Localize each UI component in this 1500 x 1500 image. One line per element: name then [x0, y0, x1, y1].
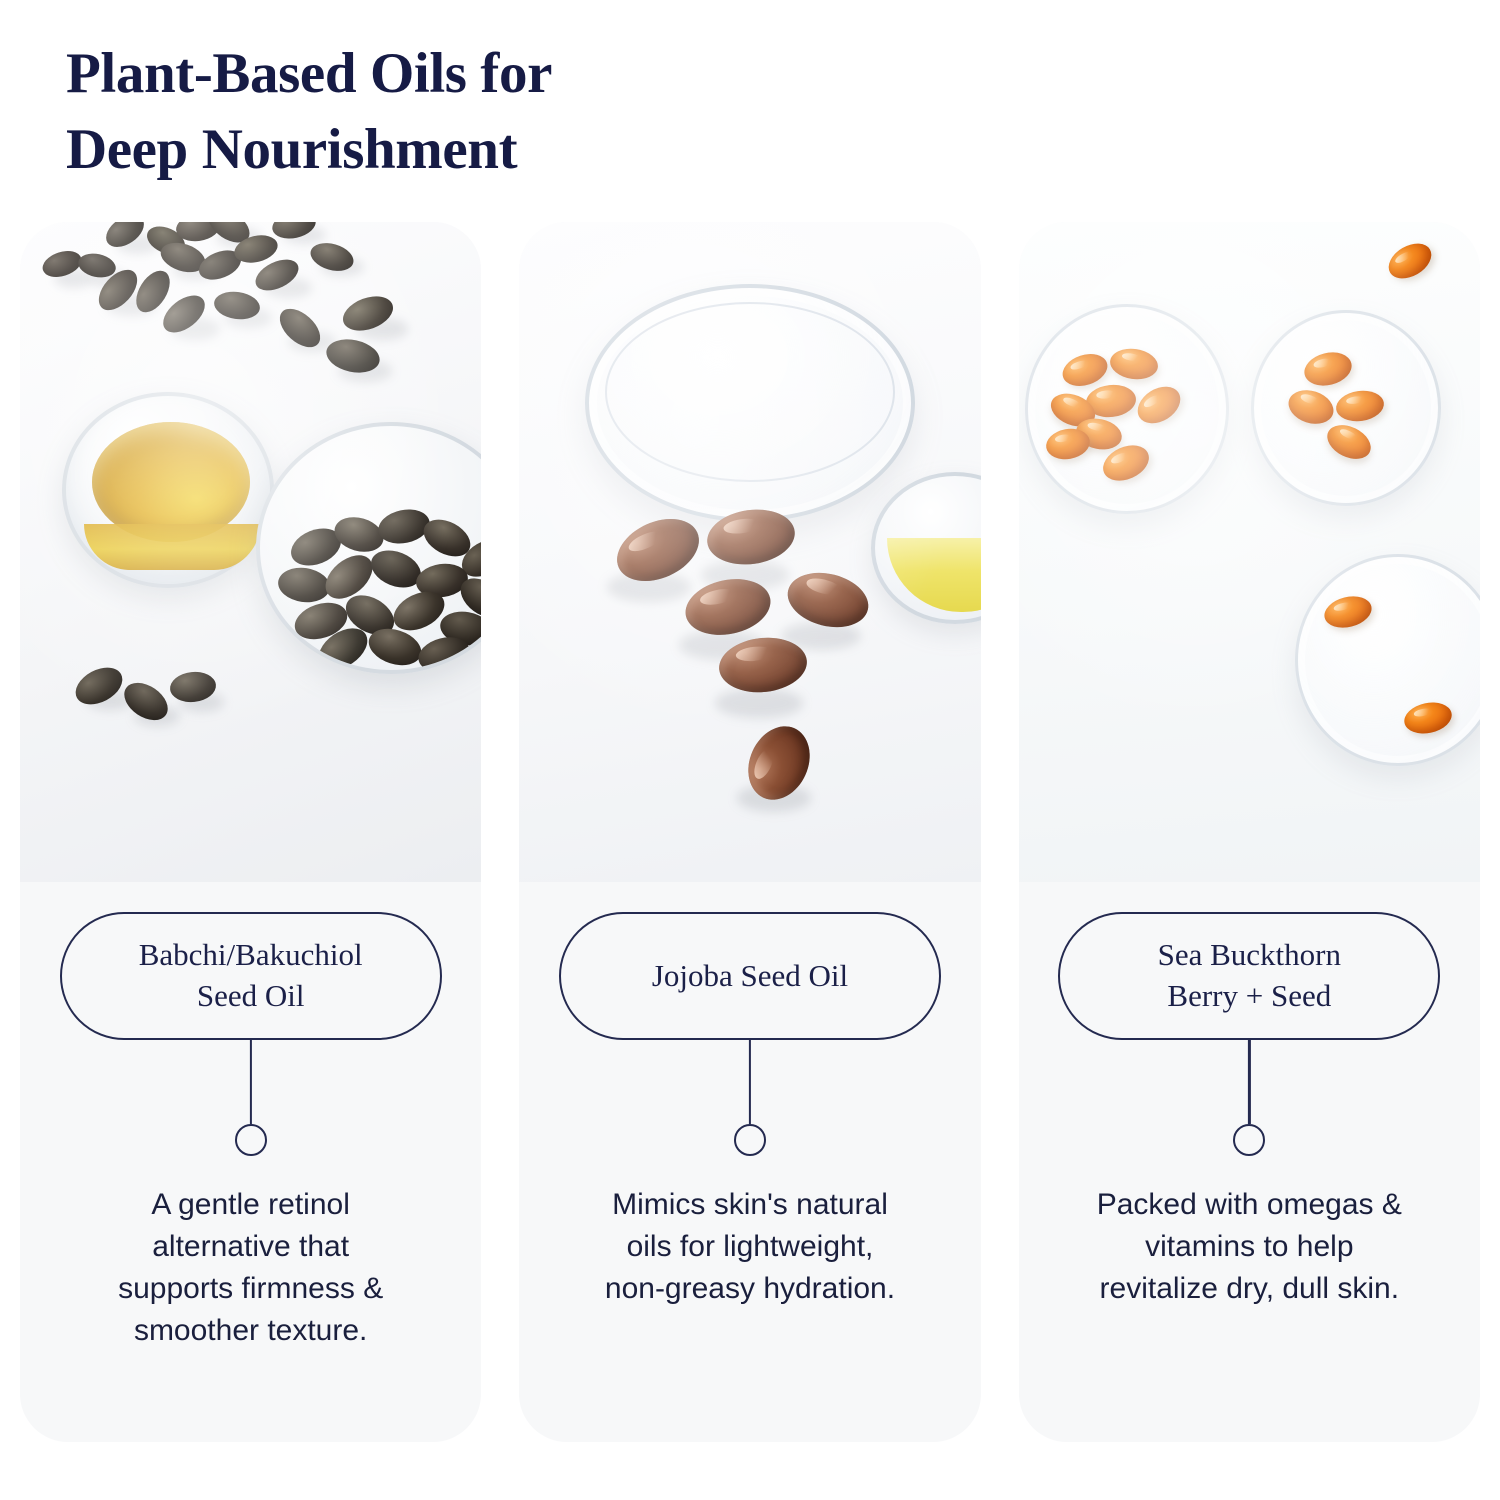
ingredient-card-row: Babchi/Bakuchiol Seed Oil A gentle retin… [20, 222, 1480, 1442]
pill-label-sea-buckthorn[interactable]: Sea Buckthorn Berry + Seed [1058, 912, 1440, 1040]
petri-dish [585, 284, 915, 522]
connector-sea-buckthorn [1232, 1040, 1266, 1156]
oil-bowl [62, 392, 274, 588]
ingredient-card-jojoba[interactable]: Jojoba Seed Oil Mimics skin's natural oi… [519, 222, 980, 1442]
page-title: Plant-Based Oils for Deep Nourishment [66, 36, 966, 189]
caption-sea-buckthorn: Packed with omegas & vitamins to help re… [1064, 1184, 1434, 1310]
petri-dish-left [1025, 304, 1229, 514]
connector-dot-icon [235, 1124, 267, 1156]
connector-babchi [234, 1040, 268, 1156]
pill-label-babchi[interactable]: Babchi/Bakuchiol Seed Oil [60, 912, 442, 1040]
connector-dot-icon [1233, 1124, 1265, 1156]
sea-buckthorn-photo [1019, 222, 1480, 882]
jojoba-photo [519, 222, 980, 882]
ingredient-card-babchi[interactable]: Babchi/Bakuchiol Seed Oil A gentle retin… [20, 222, 481, 1442]
babchi-photo [20, 222, 481, 882]
connector-stem [749, 1040, 751, 1124]
ingredient-card-sea-buckthorn[interactable]: Sea Buckthorn Berry + Seed Packed with o… [1019, 222, 1480, 1442]
petri-dish-right [1251, 310, 1441, 506]
caption-babchi: A gentle retinol alternative that suppor… [66, 1184, 436, 1352]
connector-stem [250, 1040, 252, 1124]
connector-jojoba [733, 1040, 767, 1156]
connector-stem [1248, 1040, 1250, 1124]
pill-label-jojoba[interactable]: Jojoba Seed Oil [559, 912, 941, 1040]
connector-dot-icon [734, 1124, 766, 1156]
caption-jojoba: Mimics skin's natural oils for lightweig… [565, 1184, 935, 1310]
infographic-page: Plant-Based Oils for Deep Nourishment [0, 0, 1500, 1500]
